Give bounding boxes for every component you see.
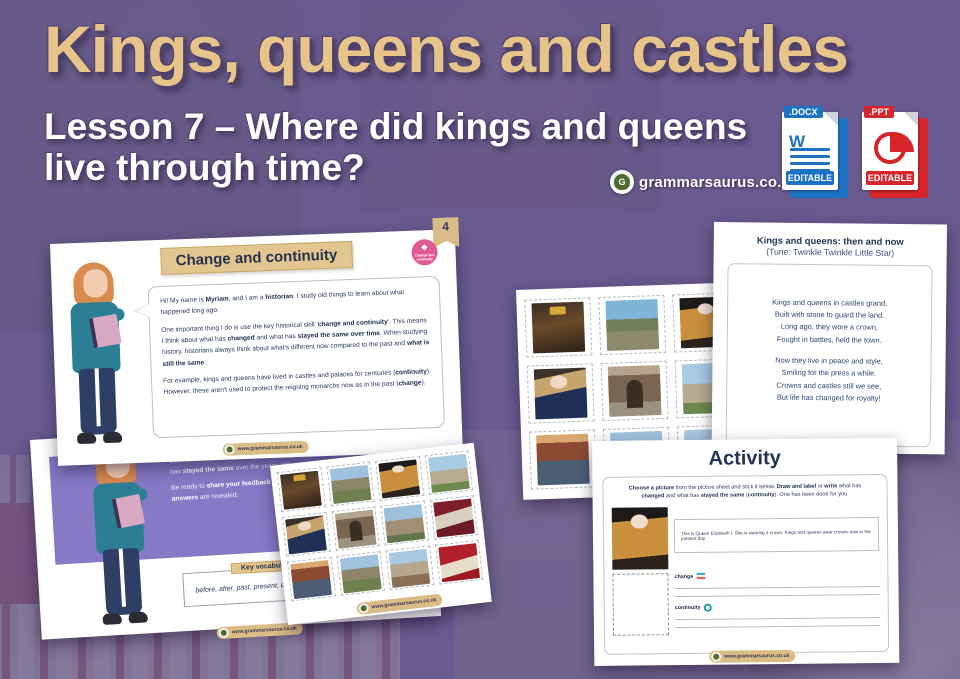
activity-example-row: This is Queen Elizabeth I. She is wearin…: [612, 505, 880, 570]
queen-elizabeth-i-portrait: [612, 507, 669, 570]
queen-elizabeth-ii: [438, 543, 480, 582]
buckingham-palace-gardens: [389, 548, 431, 587]
bubble-paragraph-1: Hi! My name is Myriam, and I am a histor…: [160, 286, 429, 318]
picture-grid: [277, 450, 483, 601]
grammarsaurus-leaf-icon: [711, 652, 721, 662]
bubble-paragraph-3: For example, kings and queens have lived…: [163, 366, 432, 398]
ppt-page-icon: EDITABLE: [862, 112, 918, 190]
song-verse-1: Kings and queens in castles grand, Built…: [734, 296, 926, 347]
writing-line[interactable]: [675, 586, 880, 589]
slide-title: Change and continuity: [160, 241, 353, 275]
castle-ruins-path: [340, 554, 382, 593]
writing-line[interactable]: [675, 594, 880, 597]
coastal-castle-ruins: [605, 299, 659, 351]
picture-cell[interactable]: [336, 551, 385, 596]
stamp-label: Change and continuity: [412, 253, 438, 262]
activity-writing-fields: change continuity: [674, 571, 880, 635]
picture-cell[interactable]: [277, 467, 326, 512]
footer-url: www.grammarsaurus.co.uk: [232, 626, 297, 636]
grammarsaurus-leaf-icon: [358, 603, 369, 614]
writing-line[interactable]: [675, 617, 880, 620]
song-lyrics-box: Kings and queens in castles grand, Built…: [726, 263, 933, 447]
pie-chart-icon: [874, 132, 906, 164]
footer-url: www.grammarsaurus.co.uk: [724, 653, 789, 660]
moated-castle: [536, 434, 590, 486]
brand: G grammarsaurus.co.uk: [610, 170, 800, 194]
song-tune: (Tune: Twinkle Twinkle Little Star): [728, 246, 933, 258]
docx-badge: W EDITABLE .DOCX: [782, 112, 848, 198]
activity-title: Activity: [602, 446, 887, 472]
picture-cell[interactable]: [524, 297, 592, 357]
windsor-castle: [428, 453, 470, 492]
queen-victoria-portrait: [285, 515, 327, 554]
castle-gateway-passage: [335, 509, 377, 548]
header: Kings, queens and castles Lesson 7 – Whe…: [0, 0, 960, 215]
queen-victoria-portrait: [534, 368, 588, 420]
grammarsaurus-leaf-icon: G: [610, 170, 634, 194]
windsor-castle-grounds: [384, 504, 426, 543]
queen-elizabeth-i-portrait: [379, 459, 421, 498]
picture-cell[interactable]: [529, 429, 597, 489]
picture-cell[interactable]: [434, 540, 483, 585]
activity-instruction: Choose a picture from the picture sheet …: [611, 482, 878, 502]
slide-card-song: Kings and queens: then and now (Tune: Tw…: [712, 222, 947, 454]
picture-cell[interactable]: [326, 462, 375, 507]
page-fold-icon: [824, 112, 838, 126]
circle-arrow-icon: [703, 604, 711, 612]
page-number-badge: 4: [432, 217, 459, 248]
picture-cell[interactable]: [385, 545, 434, 590]
william-the-conqueror-portrait: [531, 302, 585, 354]
picture-cell[interactable]: [331, 506, 380, 551]
lyric-line: Fought in battles, held the town.: [734, 333, 925, 347]
change-label: change: [674, 574, 693, 580]
slide-card-activity: Activity Choose a picture from the pictu…: [592, 438, 899, 666]
docx-page-icon: W EDITABLE: [782, 112, 838, 190]
activity-example-box[interactable]: This is Queen Elizabeth I. She is wearin…: [674, 517, 879, 553]
picture-cell[interactable]: [424, 450, 473, 495]
activity-worksheet-box: Choose a picture from the picture sheet …: [602, 474, 889, 655]
brand-label: grammarsaurus.co.uk: [639, 174, 800, 191]
continuity-label-row: continuity: [675, 602, 880, 612]
picture-sheet-small: www.grammarsaurus.co.uk: [270, 443, 492, 625]
lyric-line: But life has changed for royalty!: [733, 391, 924, 405]
activity-example-text: This is Queen Elizabeth I. She is wearin…: [681, 529, 872, 541]
docx-extension-label: .DOCX: [784, 106, 823, 118]
footer-website-badge: www.grammarsaurus.co.uk: [709, 650, 795, 663]
ppt-badge: EDITABLE .PPT: [862, 112, 928, 198]
grammarsaurus-leaf-icon: [224, 444, 234, 454]
footer-url: www.grammarsaurus.co.uk: [371, 597, 436, 610]
footer-website-badge: www.grammarsaurus.co.uk: [222, 441, 309, 456]
myriam-character-illustration: [59, 259, 140, 454]
grammarsaurus-leaf-icon: [218, 628, 229, 639]
coronation-king-charles: [433, 498, 475, 537]
change-continuity-stamp-icon: ❖ Change and continuity: [411, 239, 438, 266]
picture-cell[interactable]: [282, 512, 331, 557]
picture-cell[interactable]: [527, 363, 595, 423]
coastal-castle-ruins: [329, 464, 371, 503]
picture-cell[interactable]: [375, 456, 424, 501]
song-verse-2: Now they live in peace and style, Smilin…: [733, 354, 925, 405]
moated-castle: [290, 560, 332, 599]
slide-card-change-and-continuity: 4 Change and continuity ❖ Change and con…: [50, 229, 463, 466]
page-title: Kings, queens and castles: [44, 16, 924, 82]
king-charles-robes: [280, 470, 322, 509]
two-arrows-icon: [696, 573, 705, 581]
footer-url: www.grammarsaurus.co.uk: [238, 444, 303, 452]
myriam-character-illustration: [80, 439, 165, 629]
castle-gateway-passage: [608, 365, 662, 417]
picture-cell[interactable]: [287, 557, 336, 602]
change-label-row: change: [674, 571, 879, 581]
ppt-editable-label: EDITABLE: [866, 171, 914, 185]
picture-drop-area[interactable]: [612, 573, 669, 636]
docx-editable-label: EDITABLE: [786, 171, 834, 185]
continuity-label: continuity: [675, 605, 701, 611]
picture-cell[interactable]: [429, 495, 478, 540]
activity-answer-row: change continuity: [612, 571, 880, 636]
picture-cell[interactable]: [380, 501, 429, 546]
writing-line[interactable]: [675, 625, 880, 628]
picture-cell[interactable]: [601, 361, 669, 421]
ppt-extension-label: .PPT: [864, 106, 894, 118]
bubble-paragraph-2: One important thing I do is use the key …: [161, 315, 430, 370]
song-title: Kings and queens: then and now: [728, 234, 933, 247]
speech-bubble: Hi! My name is Myriam, and I am a histor…: [148, 276, 445, 439]
page-fold-icon: [904, 112, 918, 126]
picture-cell[interactable]: [598, 295, 666, 355]
